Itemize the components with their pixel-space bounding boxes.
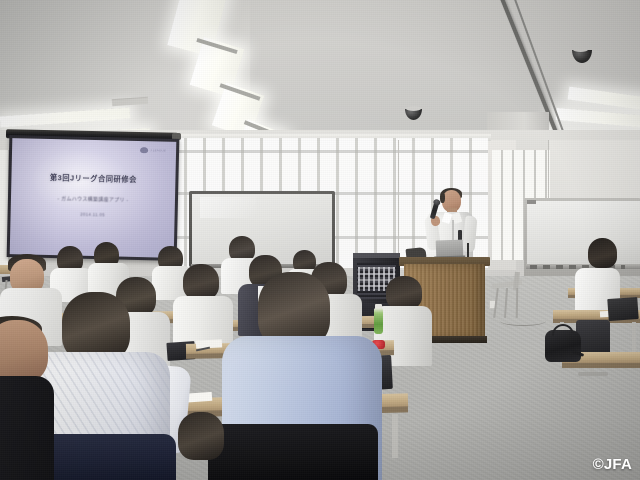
photo-canvas: J.LEAGUE 第3回Jリーグ合同研修会 - ガムハウス構築講座アプリ - 2… [0, 0, 640, 480]
office-chair-back [576, 320, 610, 356]
stacked-chairs [492, 276, 526, 324]
chair-leg [493, 288, 499, 318]
desk-edge [562, 363, 640, 368]
office-chair-base [578, 372, 608, 376]
desk-leg [392, 414, 398, 458]
chair-leg [504, 288, 508, 318]
blinds-band [168, 150, 488, 153]
speaker-hair-side [440, 192, 445, 203]
attendee-head-front [0, 320, 48, 384]
rack-top [353, 253, 400, 258]
attendee-head [386, 276, 422, 310]
slide-logo-text: J.LEAGUE [150, 148, 166, 152]
attendee-torso-suit [0, 376, 54, 480]
chair-leg [516, 288, 519, 318]
chair-back-front [208, 424, 378, 480]
copyright-watermark: ©JFA [593, 456, 632, 473]
whiteboard-clip [527, 200, 536, 204]
laptop [607, 297, 638, 321]
attendee-head [183, 264, 219, 300]
podium-laptop[interactable] [436, 240, 464, 259]
projected-slide: J.LEAGUE 第3回Jリーグ合同研修会 - ガムハウス構築講座アプリ - 2… [10, 138, 177, 258]
slide-logo: J.LEAGUE [140, 147, 166, 154]
attendee-head-front [178, 412, 224, 460]
whiteboard-surface [527, 201, 640, 264]
whiteboard-glare [200, 197, 256, 218]
league-logo-icon [140, 147, 148, 153]
attendee-head [588, 238, 617, 268]
slide-date: 2014.11.05 [11, 210, 175, 219]
drink-bottle [374, 308, 383, 334]
wall-seam [398, 140, 399, 270]
projection-screen: J.LEAGUE 第3回Jリーグ合同研修会 - ガムハウス構築講座アプリ - 2… [7, 135, 180, 261]
